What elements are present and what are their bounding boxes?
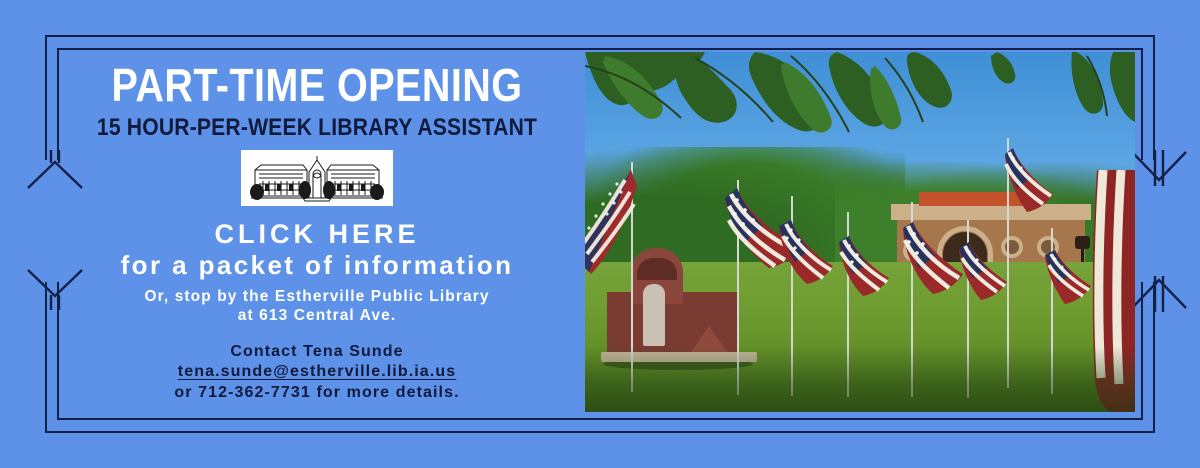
library-photo [585, 52, 1135, 412]
contact-name: Contact Tena Sunde [57, 342, 577, 362]
contact-phone-line: or 712-362-7731 for more details. [57, 383, 577, 404]
right-bottom-arrow-up-icon [1128, 270, 1190, 312]
american-flag [935, 242, 1011, 312]
promo-banner: PART-TIME OPENING 15 HOUR-PER-WEEK LIBRA… [0, 0, 1200, 468]
contact-email-link[interactable]: tena.sunde@estherville.lib.ia.us [178, 362, 456, 383]
contact-block: Contact Tena Sunde tena.sunde@esthervill… [57, 342, 577, 405]
text-column: PART-TIME OPENING 15 HOUR-PER-WEEK LIBRA… [57, 48, 577, 420]
library-logo [241, 150, 393, 206]
cta-click-here[interactable]: CLICK HERE [57, 220, 577, 248]
cta-stop-by-line-2: at 613 Central Ave. [57, 306, 577, 325]
library-building-line-art-icon [247, 154, 387, 202]
cta-packet-line[interactable]: for a packet of information [57, 251, 577, 280]
photo-lawn-shadow [585, 346, 1135, 412]
page-title: PART-TIME OPENING [93, 62, 540, 108]
position-subtitle: 15 HOUR-PER-WEEK LIBRARY ASSISTANT [88, 116, 546, 140]
american-flag [585, 170, 647, 282]
right-top-arrow-down-icon [1128, 150, 1190, 192]
photo-tree-canopy [585, 52, 1135, 172]
cta-stop-by-line-1: Or, stop by the Estherville Public Libra… [57, 287, 577, 306]
